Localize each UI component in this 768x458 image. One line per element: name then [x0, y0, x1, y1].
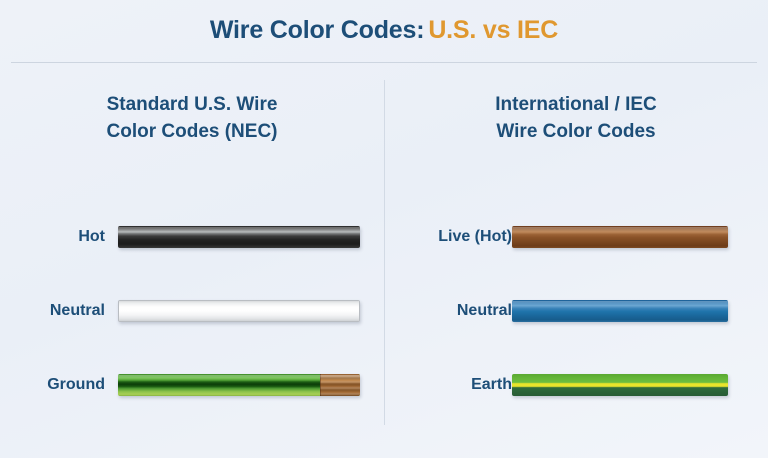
- wire-swatch-neutral-us: [118, 300, 360, 322]
- wire-body-black: [118, 226, 360, 248]
- wire-body-white: [118, 300, 360, 322]
- wire-label-neutral-iec: Neutral: [457, 302, 512, 320]
- wire-row-hot: Hot: [0, 200, 384, 274]
- wire-label-ground: Ground: [47, 376, 105, 394]
- wire-row-neutral-iec: Neutral: [384, 274, 768, 348]
- column-us-heading: Standard U.S. Wire Color Codes (NEC): [0, 92, 384, 146]
- wire-row-earth: Earth: [384, 348, 768, 422]
- wire-row-ground: Ground: [0, 348, 384, 422]
- title-main: Wire Color Codes:: [210, 16, 424, 44]
- column-iec-heading: International / IEC Wire Color Codes: [384, 92, 768, 146]
- wire-label-live: Live (Hot): [438, 228, 512, 246]
- wire-color-codes-infographic: Wire Color Codes:U.S. vs IEC Standard U.…: [0, 0, 768, 458]
- wire-row-live: Live (Hot): [384, 200, 768, 274]
- wire-swatch-neutral-iec: [512, 300, 728, 322]
- column-us-heading-line2: Color Codes (NEC): [24, 119, 360, 146]
- column-us: Standard U.S. Wire Color Codes (NEC) Hot…: [0, 92, 384, 432]
- column-us-heading-line1: Standard U.S. Wire: [24, 92, 360, 119]
- wire-body-green-yellow: [512, 374, 728, 396]
- wire-label-neutral-us: Neutral: [50, 302, 105, 320]
- column-iec: International / IEC Wire Color Codes Liv…: [384, 92, 768, 432]
- wire-body-blue: [512, 300, 728, 322]
- column-iec-heading-line1: International / IEC: [408, 92, 744, 119]
- wire-swatch-live: [512, 226, 728, 248]
- column-us-rows: Hot Neutral Ground: [0, 200, 384, 422]
- wire-swatch-hot: [118, 226, 360, 248]
- wire-row-neutral-us: Neutral: [0, 274, 384, 348]
- column-iec-heading-line2: Wire Color Codes: [408, 119, 744, 146]
- column-iec-rows: Live (Hot) Neutral Earth: [384, 200, 768, 422]
- title-divider: [11, 62, 757, 63]
- title-accent: U.S. vs IEC: [428, 16, 558, 44]
- wire-swatch-earth: [512, 374, 728, 396]
- copper-strands-icon: [320, 374, 360, 396]
- page-title: Wire Color Codes:U.S. vs IEC: [0, 16, 768, 45]
- title-text: Wire Color Codes:U.S. vs IEC: [0, 16, 768, 45]
- wire-label-hot: Hot: [78, 228, 105, 246]
- wire-body-brown: [512, 226, 728, 248]
- wire-swatch-ground: [118, 374, 360, 396]
- wire-label-earth: Earth: [471, 376, 512, 394]
